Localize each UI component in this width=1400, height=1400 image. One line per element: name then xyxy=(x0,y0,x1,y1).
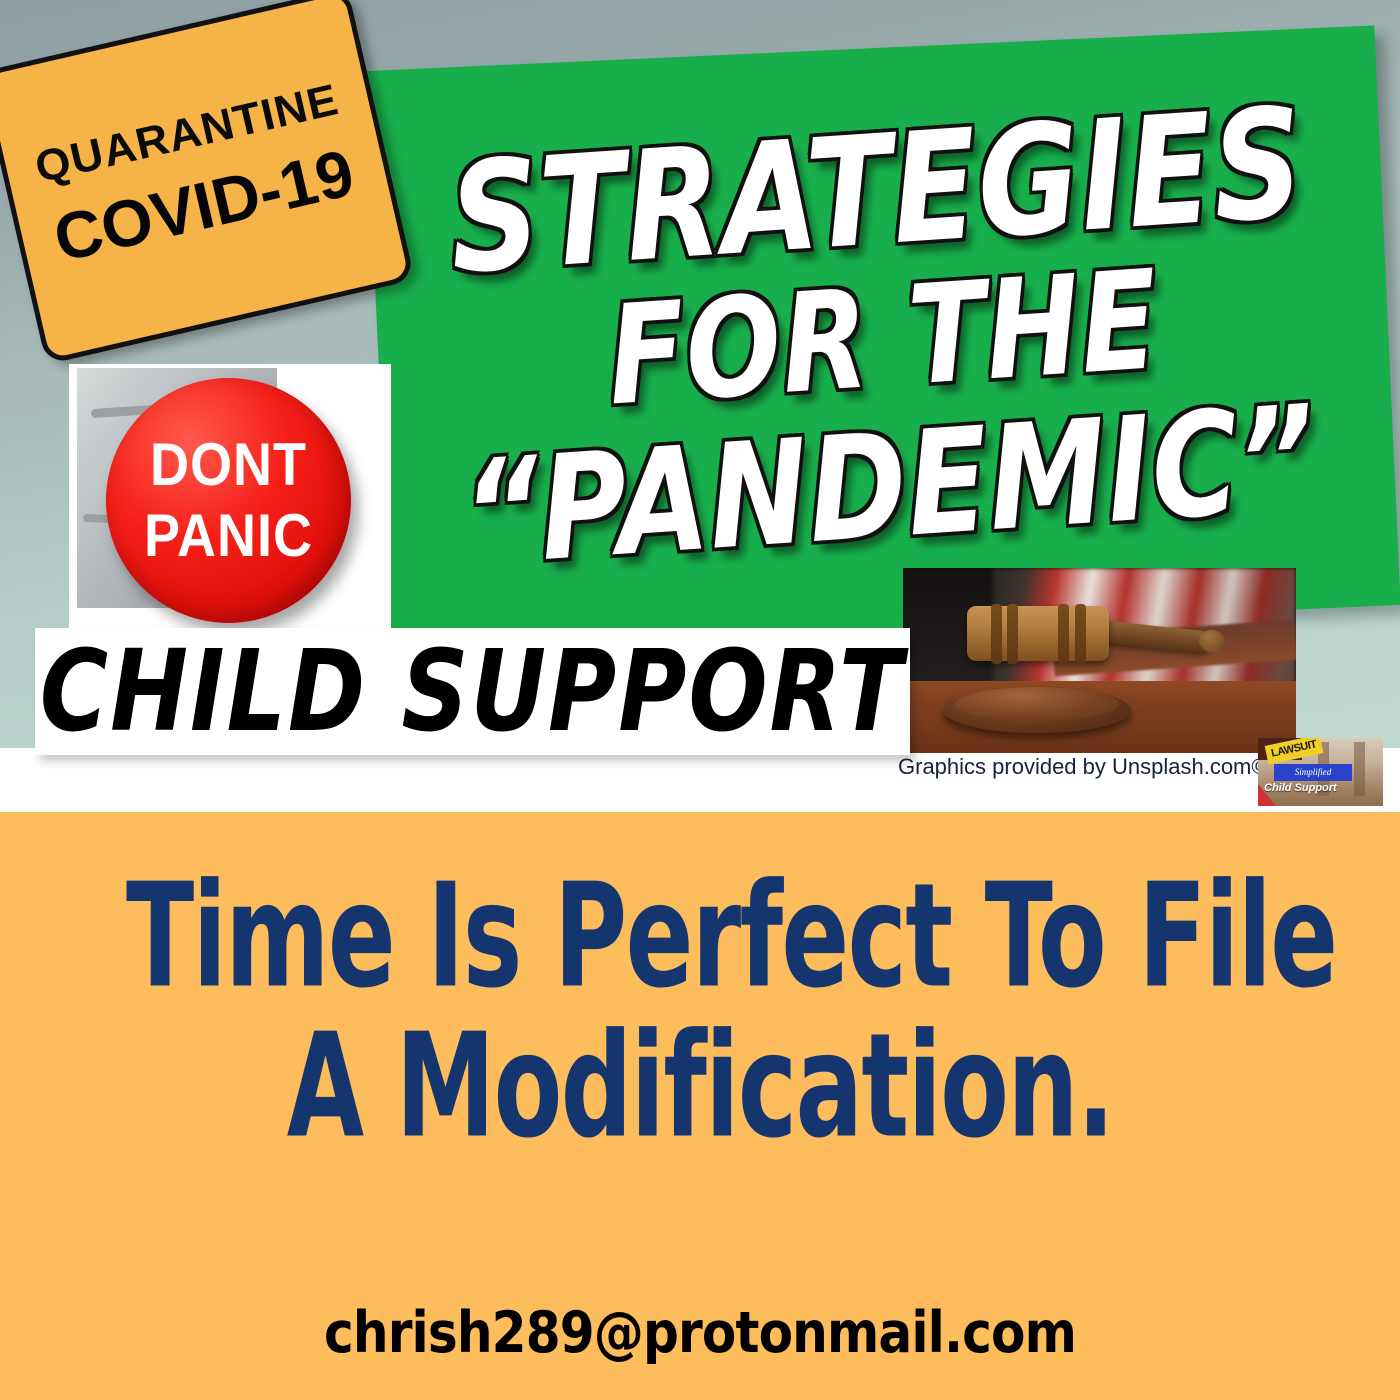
graphics-credit: Graphics provided by Unsplash.com© xyxy=(898,754,1268,780)
thumbnail-pillar xyxy=(1354,742,1365,796)
green-banner-line-3: “PANDEMIC” xyxy=(459,387,1320,586)
gavel-sound-block-top xyxy=(955,687,1119,721)
gavel-head xyxy=(967,606,1109,661)
gavel-photo xyxy=(903,568,1296,753)
thumbnail-red-corner xyxy=(1258,784,1276,806)
gavel-ring xyxy=(1007,604,1018,664)
dont-panic-line-2: PANIC xyxy=(144,504,313,567)
headline-line-2: A Modification. xyxy=(126,1013,1274,1160)
headline-section: Time Is Perfect To File A Modification. … xyxy=(0,812,1400,1400)
child-support-banner: CHILD SUPPORT xyxy=(35,628,910,755)
headline-block: Time Is Perfect To File A Modification. xyxy=(0,874,1400,1149)
gavel-ring xyxy=(1058,604,1069,664)
poster-canvas: STRATEGIES FOR THE “PANDEMIC” QUARANTIN xyxy=(0,0,1400,1400)
courtroom-thumbnail: Simplified LAWSUIT Child Support xyxy=(1258,738,1383,806)
dont-panic-badge-icon: DONT PANIC xyxy=(106,378,351,623)
contact-email[interactable]: chrish289@protonmail.com xyxy=(84,1300,1316,1366)
gavel-ring xyxy=(1075,604,1086,664)
thumbnail-banner-label: Simplified xyxy=(1274,764,1352,781)
collage-section: STRATEGIES FOR THE “PANDEMIC” QUARANTIN xyxy=(0,0,1400,812)
gavel-ring xyxy=(991,604,1002,664)
thumbnail-blue-banner: Simplified xyxy=(1274,764,1352,781)
dont-panic-panel: DONT PANIC xyxy=(69,364,391,632)
headline-line-1: Time Is Perfect To File xyxy=(126,863,1274,1010)
child-support-label: CHILD SUPPORT xyxy=(40,627,905,757)
dont-panic-line-1: DONT xyxy=(150,434,307,497)
green-banner: STRATEGIES FOR THE “PANDEMIC” xyxy=(365,25,1400,650)
green-banner-text: STRATEGIES FOR THE “PANDEMIC” xyxy=(365,25,1400,650)
